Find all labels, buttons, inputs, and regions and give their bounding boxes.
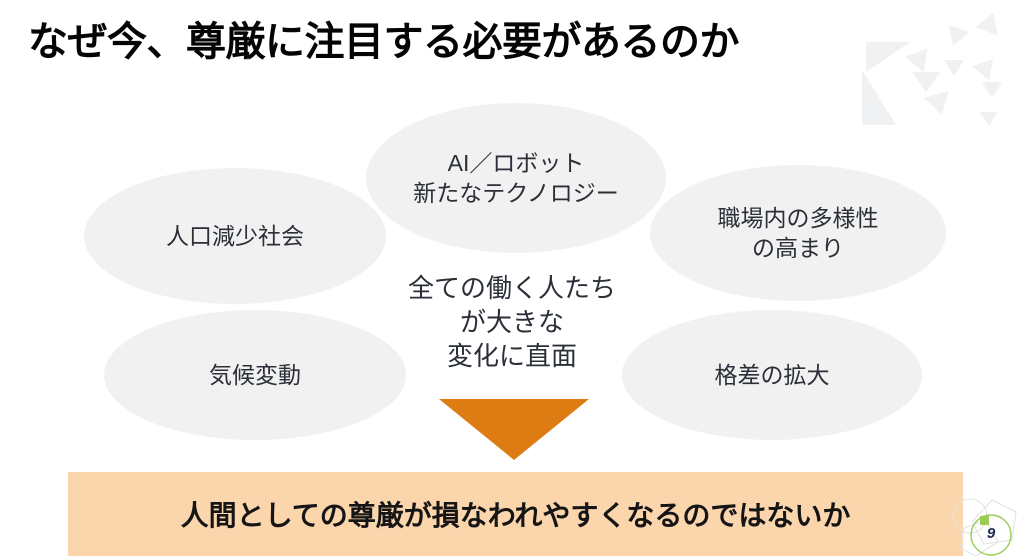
page-number: 9: [981, 525, 1001, 542]
driver-label: 職場内の多様性 の高まり: [704, 203, 893, 264]
triangle-icon: [975, 8, 1004, 35]
page-number-badge: 9: [940, 494, 1024, 556]
driver-ellipse-climate: 気候変動: [104, 310, 406, 440]
driver-ellipse-population: 人口減少社会: [84, 168, 386, 304]
slide-canvas: なぜ今、尊厳に注目する必要があるのか 人口減少社会 AI／ロボット 新たなテクノ…: [0, 0, 1024, 556]
triangle-icon: [905, 49, 935, 77]
driver-ellipse-gap: 格差の拡大: [622, 310, 922, 440]
page-title: なぜ今、尊厳に注目する必要があるのか: [28, 18, 739, 66]
triangle-icon: [982, 82, 1002, 98]
triangle-icon: [972, 59, 999, 84]
center-message: 全ての働く人たち が大きな 変化に直面: [382, 272, 642, 373]
driver-ellipse-diversity: 職場内の多様性 の高まり: [650, 165, 946, 301]
triangle-icon: [943, 25, 970, 49]
triangle-icon: [866, 42, 910, 72]
triangle-icon: [912, 72, 940, 92]
driver-label: 気候変動: [195, 360, 315, 390]
down-triangle-icon: [439, 399, 589, 460]
driver-label: 格差の拡大: [701, 360, 844, 390]
triangle-icon: [944, 60, 964, 76]
driver-label: AI／ロボット 新たなテクノロジー: [399, 148, 633, 209]
driver-label: 人口減少社会: [152, 221, 318, 251]
triangle-icon: [980, 112, 998, 126]
triangle-icon: [924, 91, 955, 118]
conclusion-text: 人間としての尊厳が損なわれやすくなるのではないか: [181, 494, 851, 534]
triangle-icon: [862, 70, 896, 125]
conclusion-banner: 人間としての尊厳が損なわれやすくなるのではないか: [68, 472, 963, 556]
driver-ellipse-ai: AI／ロボット 新たなテクノロジー: [366, 103, 666, 253]
